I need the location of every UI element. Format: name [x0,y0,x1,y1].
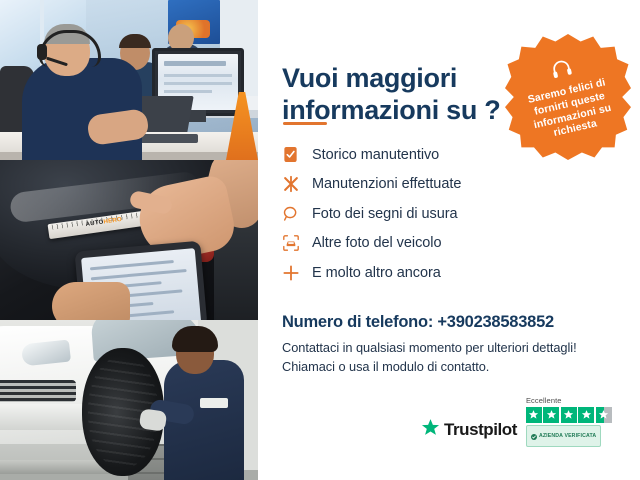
list-item: Altre foto del veicolo [282,229,582,259]
trustpilot-wordmark: Trustpilot [444,420,517,440]
screen-row [164,74,232,77]
list-item: Foto dei segni di usura [282,199,582,229]
star-filled [543,407,559,423]
trustpilot-score-block: Eccellente [526,396,612,447]
photo-column: AUTOHERO [0,0,258,480]
mechanic-badge [200,398,228,408]
trustpilot-star-icon [421,418,440,442]
phone-number[interactable]: Numero di telefono: +390238583852 [282,313,554,332]
mechanic-hair [172,326,218,352]
trustpilot-rating-label: Eccellente [526,396,562,405]
headline-line-2: informazioni su ? [282,95,500,125]
list-item: Storico manutentivo [282,140,582,170]
star-filled [578,407,594,423]
car-inspection-ruler-photo: AUTOHERO [0,160,258,320]
list-item-label: Altre foto del veicolo [312,235,441,251]
tablet-row [91,269,187,280]
tools-wrench-icon [282,175,312,193]
list-item: Manutenzioni effettuate [282,170,582,200]
checklist-document-icon [282,146,312,163]
badge-text: Saremo felici di fornirti queste informa… [515,74,628,147]
headline-line-1: Vuoi maggiori [282,63,457,93]
list-item: E molto altro ancora [282,258,582,288]
headset-icon [548,56,575,85]
contact-subtext-line-2: Chiamaci o usa il modulo di contatto. [282,359,489,374]
plus-icon [282,264,312,282]
screen-row [164,90,212,93]
contact-subtext: Contattaci in qualsiasi momento per ulte… [282,339,612,376]
agent-1-body [22,58,142,160]
verified-check-icon [531,427,537,445]
trustpilot-stars [526,407,612,423]
list-item-label: Manutenzioni effettuate [312,176,461,192]
list-item-label: Foto dei segni di usura [312,206,458,222]
star-filled [526,407,542,423]
headset-band [39,30,101,67]
feature-list: Storico manutentivo Manutenzioni effettu… [282,140,582,288]
mechanic-glove [139,408,168,431]
star-filled [561,407,577,423]
content-panel: Vuoi maggiori informazioni su ? Saremo f… [258,0,640,480]
screen-row [164,82,232,85]
contact-subtext-line-1: Contattaci in qualsiasi momento per ulte… [282,340,577,355]
car-scan-photo-icon [282,234,312,252]
magnifier-icon [282,205,312,223]
tablet-row [90,260,174,270]
trustpilot-rating[interactable]: Trustpilot Eccellente [421,396,612,447]
page-title: Vuoi maggiori informazioni su ? [282,62,512,126]
list-item-label: Storico manutentivo [312,147,439,163]
screen-toolbar [164,61,226,66]
verified-business-badge: AZIENDA VERIFICATA [526,425,601,447]
car-grille [0,380,76,402]
call-center-photo [0,0,258,160]
mechanic-wheel-photo [0,320,258,480]
second-hand [52,282,130,320]
trustpilot-logo: Trustpilot [421,418,517,447]
verified-label: AZIENDA VERIFICATA [539,433,596,439]
agent-2-hair [119,34,151,48]
list-item-label: E molto altro ancora [312,265,441,281]
star-half [596,407,612,423]
title-divider [283,122,327,125]
promo-banner: AUTOHERO [0,0,640,480]
